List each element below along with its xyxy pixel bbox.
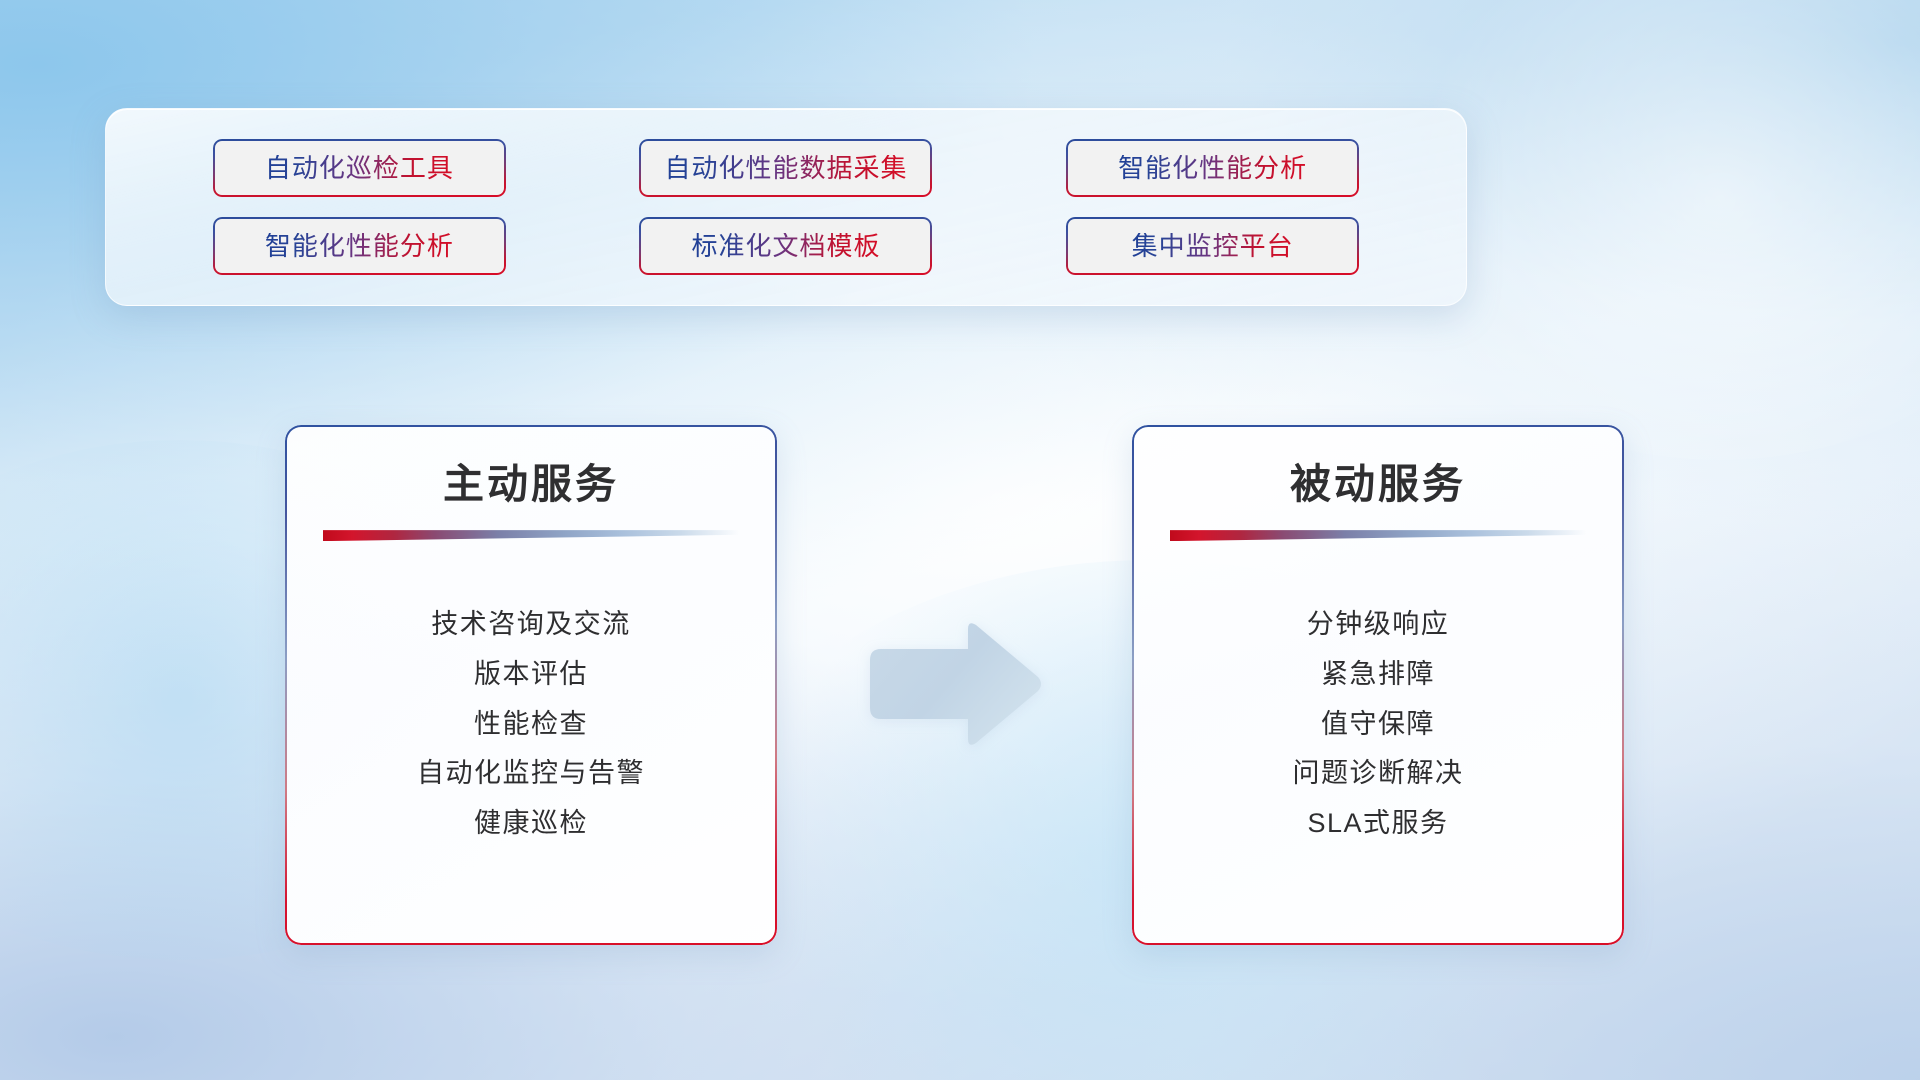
- capability-tag-label: 智能化性能分析: [265, 233, 454, 259]
- capability-tag-label: 标准化文档模板: [691, 233, 880, 259]
- infographic-canvas: 自动化巡检工具 自动化性能数据采集 智能化性能分析 智能化性能分析 标准化文档模…: [0, 0, 1920, 1080]
- title-divider: [1170, 530, 1586, 542]
- title-divider: [323, 530, 739, 542]
- capability-tag-standardized-document-template[interactable]: 标准化文档模板: [639, 217, 932, 275]
- active-service-list: 技术咨询及交流 版本评估 性能检查 自动化监控与告警 健康巡检: [319, 542, 743, 915]
- arrow-right-icon: [862, 620, 1044, 748]
- list-item: 技术咨询及交流: [319, 608, 743, 642]
- list-item: 值守保障: [1166, 708, 1590, 742]
- capability-tag-intelligent-performance-analysis-a[interactable]: 智能化性能分析: [1066, 139, 1359, 197]
- passive-service-title: 被动服务: [1166, 461, 1590, 508]
- capability-tag-label: 自动化巡检工具: [265, 155, 454, 181]
- list-item: 性能检查: [319, 708, 743, 742]
- capability-tag-centralized-monitoring-platform[interactable]: 集中监控平台: [1066, 217, 1359, 275]
- list-item: 问题诊断解决: [1166, 757, 1590, 791]
- capability-tag-label: 自动化性能数据采集: [664, 155, 907, 181]
- active-service-title: 主动服务: [319, 461, 743, 508]
- active-service-card[interactable]: 主动服务 技术咨询及交流 版本评估 性能检查 自动化监控与告警 健康巡检: [285, 425, 777, 945]
- list-item: SLA式服务: [1166, 807, 1590, 841]
- list-item: 自动化监控与告警: [319, 757, 743, 791]
- list-item: 版本评估: [319, 658, 743, 692]
- capability-tag-label: 智能化性能分析: [1118, 155, 1307, 181]
- capability-tag-label: 集中监控平台: [1132, 233, 1294, 259]
- list-item: 分钟级响应: [1166, 608, 1590, 642]
- capability-tag-automated-inspection-tool[interactable]: 自动化巡检工具: [213, 139, 506, 197]
- passive-service-card[interactable]: 被动服务 分钟级响应 紧急排障 值守保障 问题诊断解决 SLA式服务: [1132, 425, 1624, 945]
- capability-tag-intelligent-performance-analysis-b[interactable]: 智能化性能分析: [213, 217, 506, 275]
- list-item: 健康巡检: [319, 807, 743, 841]
- capability-tag-automated-performance-data-collection[interactable]: 自动化性能数据采集: [639, 139, 932, 197]
- list-item: 紧急排障: [1166, 658, 1590, 692]
- passive-service-list: 分钟级响应 紧急排障 值守保障 问题诊断解决 SLA式服务: [1166, 542, 1590, 915]
- capability-panel: 自动化巡检工具 自动化性能数据采集 智能化性能分析 智能化性能分析 标准化文档模…: [105, 108, 1467, 306]
